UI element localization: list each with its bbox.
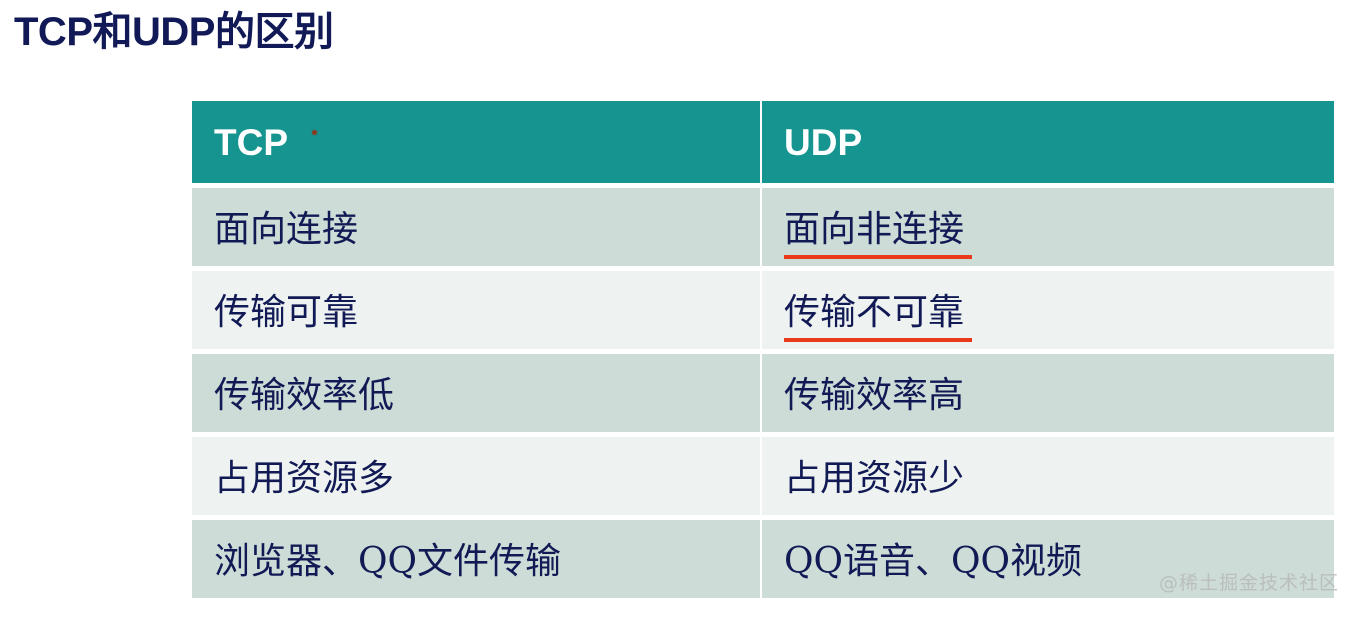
table-body: 面向连接 面向非连接 传输可靠 传输不可靠 传输效率低 传输: [192, 188, 1334, 598]
tcp-udp-comparison-table: TCP UDP 面向连接 面向非连接 传输可靠: [190, 96, 1336, 603]
table-row: 面向连接 面向非连接: [192, 188, 1334, 266]
cell-text-highlighted: 传输不可靠: [784, 283, 964, 338]
cell-text: QQ语音、QQ视频: [784, 532, 1082, 587]
slide-canvas: TCP和UDP的区别 TCP UDP 面向连接: [0, 0, 1355, 617]
table-header-row: TCP UDP: [192, 101, 1334, 183]
cell-text: 面向连接: [214, 200, 358, 255]
cell-tcp-connection: 面向连接: [192, 188, 760, 266]
cell-text: 传输效率低: [214, 366, 394, 421]
cell-tcp-efficiency: 传输效率低: [192, 354, 760, 432]
page-title: TCP和UDP的区别: [14, 6, 333, 58]
column-header-udp-label: UDP: [784, 122, 862, 164]
table-header: TCP UDP: [192, 101, 1334, 183]
cell-text: 传输可靠: [214, 283, 358, 338]
cell-udp-efficiency: 传输效率高: [762, 354, 1334, 432]
speck-artifact-icon: [312, 130, 317, 135]
cell-udp-resource-usage: 占用资源少: [762, 437, 1334, 515]
cell-tcp-use-cases: 浏览器、QQ文件传输: [192, 520, 760, 598]
cell-text: 传输效率高: [784, 366, 964, 421]
cell-text: 浏览器、QQ文件传输: [214, 532, 561, 587]
cell-tcp-resource-usage: 占用资源多: [192, 437, 760, 515]
cell-udp-connection: 面向非连接: [762, 188, 1334, 266]
cell-text-highlighted: 面向非连接: [784, 200, 964, 255]
table-row: 传输效率低 传输效率高: [192, 354, 1334, 432]
column-header-tcp-label: TCP: [214, 122, 288, 164]
cell-udp-reliability: 传输不可靠: [762, 271, 1334, 349]
column-header-udp: UDP: [762, 101, 1334, 183]
cell-text: 占用资源多: [214, 449, 394, 504]
table-row: 传输可靠 传输不可靠: [192, 271, 1334, 349]
watermark: @稀土掘金技术社区: [1159, 568, 1339, 595]
table-row: 占用资源多 占用资源少: [192, 437, 1334, 515]
column-header-tcp: TCP: [192, 101, 760, 183]
cell-tcp-reliability: 传输可靠: [192, 271, 760, 349]
cell-text: 占用资源少: [784, 449, 964, 504]
